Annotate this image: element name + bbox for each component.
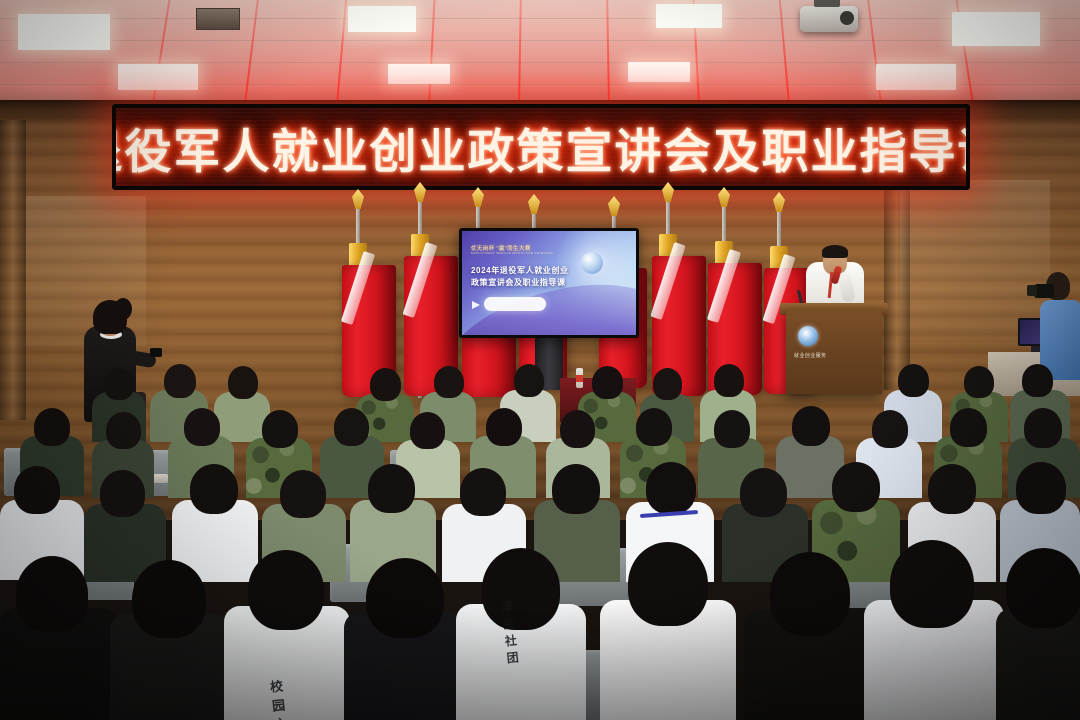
conference-hall-photo: 退役军人就业创业政策宣讲会及职业指导课 xyxy=(0,0,1080,720)
ceiling-light xyxy=(876,64,956,90)
camera-icon xyxy=(1034,284,1054,298)
speaker-hair xyxy=(822,245,848,258)
ceiling-light xyxy=(656,4,722,28)
ceiling-projector xyxy=(800,6,858,32)
projection-screen: 优⽆岗杯 "赢"⽽⽣⼤赛 EMPLOYMENT SERVICE MONTH FO… xyxy=(459,228,639,338)
ceiling-light xyxy=(952,12,1040,46)
ceiling-light xyxy=(348,6,416,32)
screen-arrow-icon xyxy=(472,301,480,309)
screen-kicker-sub: EMPLOYMENT SERVICE MONTH FOR VETERANS xyxy=(471,251,553,255)
screen-pill-graphic xyxy=(484,297,546,311)
podium: 就业创业服务 xyxy=(786,310,882,394)
wall-panel-highlight xyxy=(900,180,1050,340)
ceiling-light xyxy=(628,62,690,82)
ceiling xyxy=(0,0,1080,112)
ceiling-light xyxy=(388,64,450,84)
led-banner: 退役军人就业创业政策宣讲会及职业指导课 xyxy=(112,104,970,190)
ceiling-light xyxy=(118,64,198,90)
wall-panel-highlight xyxy=(26,196,146,346)
air-vent-icon xyxy=(196,8,240,30)
wall-pillar xyxy=(0,120,26,420)
screen-title-line2: 政策宣讲会及职业指导课 xyxy=(471,277,566,288)
podium-emblem-icon xyxy=(798,326,818,346)
podium-label: 就业创业服务 xyxy=(794,352,826,359)
screen-title-line1: 2024年退役军人就业创业 xyxy=(471,265,569,276)
ceiling-light xyxy=(18,14,110,50)
flag xyxy=(330,205,386,395)
led-banner-text: 退役军人就业创业政策宣讲会及职业指导课 xyxy=(112,113,970,182)
water-bottle-icon xyxy=(576,368,583,388)
attendant-hair-bun xyxy=(114,298,132,320)
phone-icon xyxy=(150,348,162,357)
screen-orb-graphic xyxy=(581,252,603,274)
